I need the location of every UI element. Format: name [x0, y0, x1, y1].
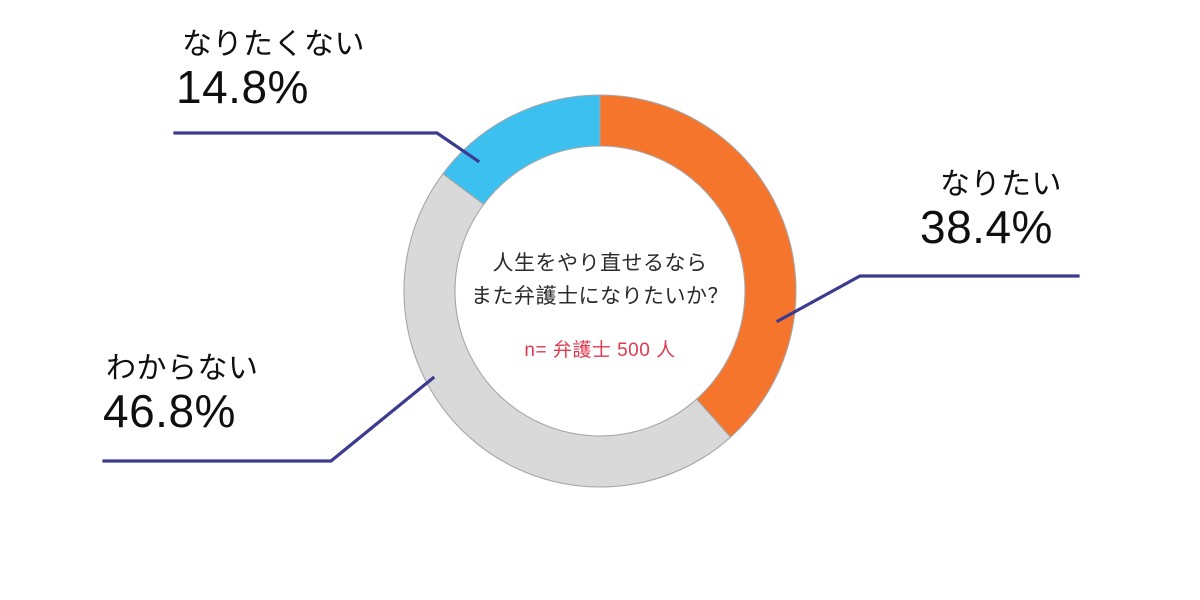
callout-naritakunai-percent: 14.8% — [176, 62, 365, 114]
callout-naritai-category: なりたい — [862, 168, 1062, 202]
donut-slice-wakaranai[interactable] — [404, 174, 731, 487]
callout-wakaranai-percent: 46.8% — [103, 386, 259, 438]
callout-naritakunai-category: なりたくない — [176, 28, 365, 62]
leader-line-naritai — [778, 276, 1078, 321]
donut-slice-naritai[interactable] — [600, 95, 796, 437]
donut-ring — [404, 95, 796, 487]
donut-slice-naritakunai[interactable] — [443, 95, 600, 204]
callout-wakaranai: わからない 46.8% — [103, 352, 259, 437]
donut-chart-figure: 人生をやり直せるなら また弁護士になりたいか？ n= 弁護士 500 人 なりた… — [0, 0, 1200, 600]
leader-line-naritakunai — [175, 133, 478, 161]
callout-naritakunai: なりたくない 14.8% — [176, 28, 365, 113]
callout-wakaranai-category: わからない — [103, 352, 259, 386]
callout-naritai: なりたい 38.4% — [862, 168, 1062, 253]
callout-naritai-percent: 38.4% — [862, 202, 1062, 254]
